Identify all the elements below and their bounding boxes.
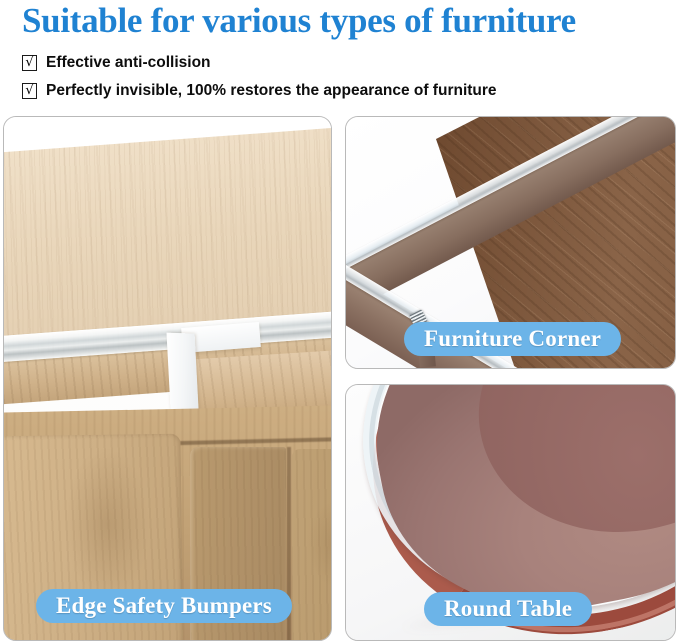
check-radical-icon: √ bbox=[22, 83, 37, 99]
badge-round-table: Round Table bbox=[424, 592, 592, 626]
header: Suitable for various types of furniture … bbox=[0, 0, 679, 105]
check-radical-icon: √ bbox=[22, 55, 37, 71]
product-image-grid: Edge Safety Bumpers Furniture Corner Rou bbox=[3, 116, 676, 641]
feature-bullet-item: √ Effective anti-collision bbox=[22, 49, 671, 77]
edge-safety-bumpers-photo bbox=[4, 117, 331, 640]
feature-bullet-list: √ Effective anti-collision √ Perfectly i… bbox=[8, 49, 671, 105]
badge-furniture-corner: Furniture Corner bbox=[404, 322, 621, 356]
panel-furniture-corner: Furniture Corner bbox=[345, 116, 676, 369]
panel-round-table: Round Table bbox=[345, 384, 676, 641]
badge-edge-safety-bumpers: Edge Safety Bumpers bbox=[36, 589, 292, 623]
feature-bullet-item: √ Perfectly invisible, 100% restores the… bbox=[22, 77, 671, 105]
feature-bullet-label: Perfectly invisible, 100% restores the a… bbox=[46, 82, 497, 100]
cabinet-drawer-right bbox=[292, 449, 331, 640]
panel-edge-safety-bumpers: Edge Safety Bumpers bbox=[3, 116, 332, 641]
feature-bullet-label: Effective anti-collision bbox=[46, 54, 211, 72]
page-title: Suitable for various types of furniture bbox=[8, 0, 671, 41]
